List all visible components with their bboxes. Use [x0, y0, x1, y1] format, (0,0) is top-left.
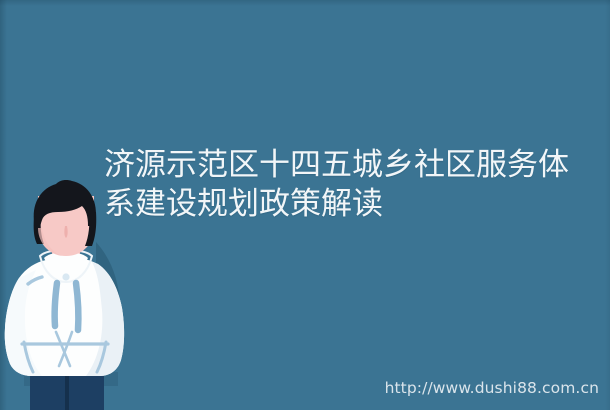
article-cover-image: 济源示范区十四五城乡社区服务体系建设规划政策解读 http://www.dush… — [0, 0, 610, 410]
head — [34, 180, 97, 256]
page-title: 济源示范区十四五城乡社区服务体系建设规划政策解读 — [104, 146, 574, 224]
hood-knot — [62, 273, 69, 280]
watermark-url: http://www.dushi88.com.cn — [385, 380, 599, 397]
